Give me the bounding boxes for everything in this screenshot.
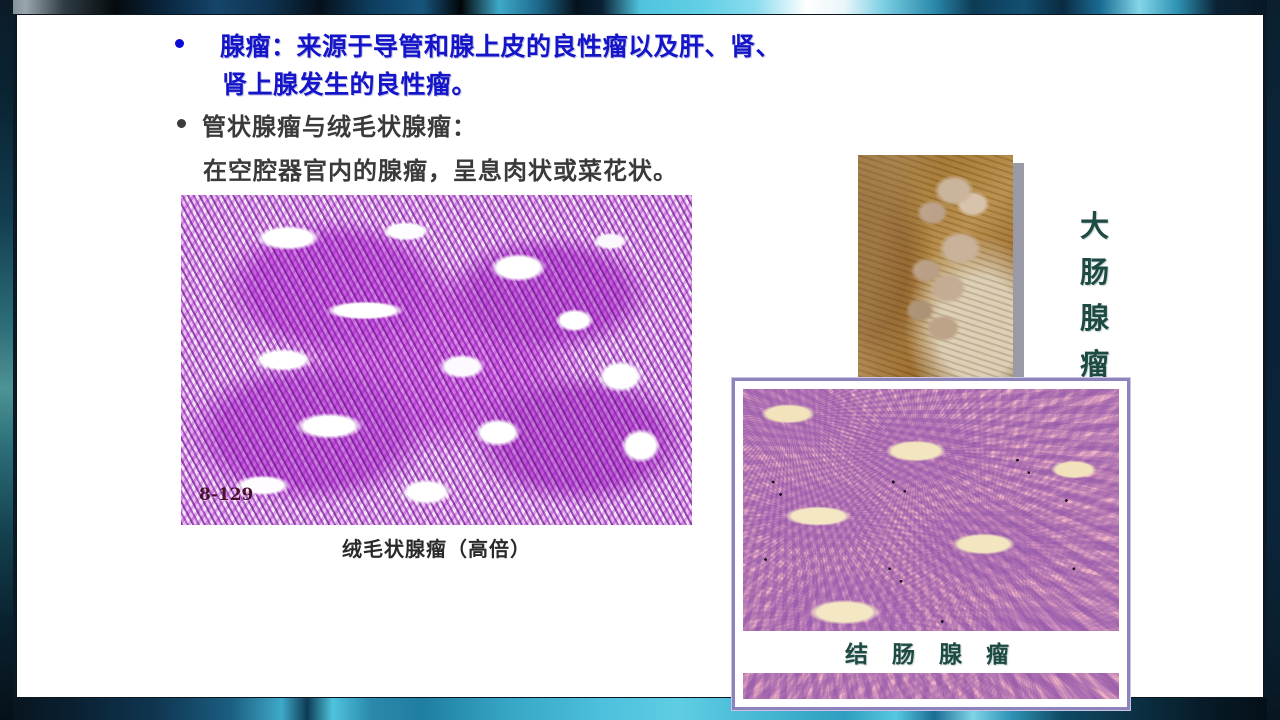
gross-specimen-photo (858, 155, 1020, 383)
villous-adenoma-caption: 绒毛状腺瘤（高倍） (181, 533, 692, 562)
bullet-adenoma-line2: 肾上腺发生的良性瘤。 (222, 67, 477, 103)
micrograph-figure-code: 8-129 (199, 485, 253, 505)
slide-border-right (1267, 0, 1280, 720)
photo-sheen (858, 155, 1013, 377)
colon-adenoma-caption: 结 肠 腺 瘤 (845, 635, 1017, 669)
large-intestine-adenoma-label: 大 肠 腺 瘤 (1080, 203, 1109, 387)
slide-border-left (0, 0, 13, 720)
villous-adenoma-micrograph: 8-129 (181, 195, 692, 525)
vertical-label-char-1: 大 (1080, 203, 1109, 249)
colon-adenoma-inner: 结 肠 腺 瘤 (743, 389, 1119, 699)
vertical-label-char-3: 腺 (1080, 295, 1109, 341)
slide-canvas: 腺瘤：来源于导管和腺上皮的良性瘤以及肝、肾、 肾上腺发生的良性瘤。 管状腺瘤与绒… (0, 0, 1280, 720)
vertical-label-char-2: 肠 (1080, 249, 1109, 295)
bullet-dot-icon (175, 39, 184, 48)
bullet-tubular-villous-line1: 管状腺瘤与绒毛状腺瘤： (202, 109, 477, 145)
bullet-item-adenoma: 腺瘤：来源于导管和腺上皮的良性瘤以及肝、肾、 (175, 29, 781, 65)
slide-page: 腺瘤：来源于导管和腺上皮的良性瘤以及肝、肾、 肾上腺发生的良性瘤。 管状腺瘤与绒… (16, 14, 1264, 698)
bullet-item-tubular-villous: 管状腺瘤与绒毛状腺瘤： (177, 109, 477, 145)
gross-specimen-image (858, 155, 1013, 377)
bullet-dot-icon (177, 119, 186, 128)
colon-adenoma-caption-band: 结 肠 腺 瘤 (743, 631, 1119, 673)
colon-adenoma-framed-image: 结 肠 腺 瘤 (732, 378, 1130, 710)
micrograph-vignette (181, 195, 692, 525)
bullet-adenoma-line1: 腺瘤：来源于导管和腺上皮的良性瘤以及肝、肾、 (220, 29, 781, 65)
slide-border-top (0, 0, 1280, 14)
bullet-tubular-villous-line2: 在空腔器官内的腺瘤，呈息肉状或菜花状。 (203, 153, 678, 189)
